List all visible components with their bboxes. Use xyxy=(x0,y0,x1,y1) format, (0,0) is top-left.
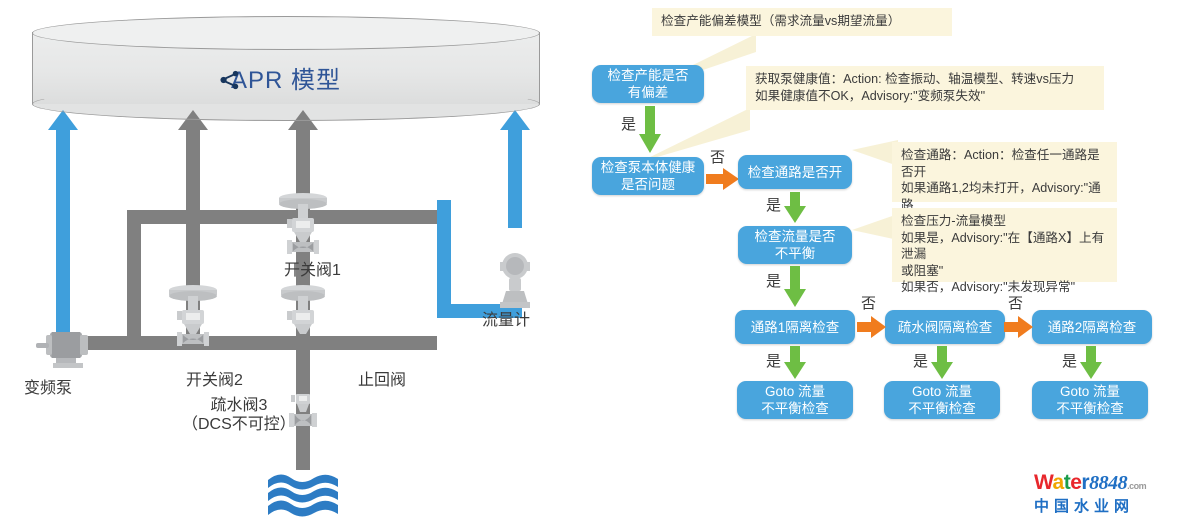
site-logo: Water8848.com 中国水业网 xyxy=(1034,472,1180,518)
arrow-yes-capacity-to-pump xyxy=(639,106,661,154)
node-pump-health[interactable]: 检查泵本体健康 是否问题 xyxy=(592,157,704,195)
logo-number: 8848 xyxy=(1089,472,1127,494)
arrow-no-drain-to-path2 xyxy=(1004,316,1034,338)
edge-label-yes-3: 是 xyxy=(766,270,781,291)
left-drop-pipe xyxy=(127,210,141,340)
valve-2-label: 开关阀2 xyxy=(186,366,243,390)
check-valve-label: 止回阀 xyxy=(358,366,406,390)
node-path1-isolation[interactable]: 通路1隔离检查 xyxy=(735,310,855,344)
node-capacity-deviation[interactable]: 检查产能是否 有偏差 xyxy=(592,65,704,103)
drain-valve-3-label-line1: 疏水阀3 xyxy=(182,396,296,415)
logo-chinese-name: 中国水业网 xyxy=(1034,497,1180,517)
valve-1-label: 开关阀1 xyxy=(284,256,341,280)
node-goto-2[interactable]: Goto 流量 不平衡检查 xyxy=(884,381,1000,419)
flowmeter-vertical-pipe xyxy=(437,200,451,318)
logo-letter-e: e xyxy=(1070,471,1081,494)
edge-label-yes-6: 是 xyxy=(1062,350,1077,371)
edge-label-no-1: 否 xyxy=(710,146,725,167)
diagram-canvas: APR 模型 变频泵 开关阀1 xyxy=(0,0,1183,525)
note-capacity-model: 检查产能偏差模型（需求流量vs期望流量） xyxy=(652,8,952,36)
arrow-yes-path1-to-goto1 xyxy=(784,346,806,380)
node-drainvalve-isolation[interactable]: 疏水阀隔离检查 xyxy=(885,310,1005,344)
logo-wordmark: Water8848.com xyxy=(1034,472,1180,497)
flow-meter-label: 流量计 xyxy=(482,306,530,330)
apr-model-label: APR 模型 xyxy=(32,60,540,95)
note-pressure-flow-model: 检查压力-流量模型 如果是，Advisory:"在【通路X】上有泄漏 或阻塞" … xyxy=(892,208,1117,282)
pump-label: 变频泵 xyxy=(24,374,72,398)
note-path-check: 检查通路：Action：检查任一通路是否开 如果通路1,2均未打开，Adviso… xyxy=(892,142,1117,202)
logo-tld: .com xyxy=(1127,481,1146,491)
main-header-pipe xyxy=(86,336,437,350)
apr-model-cylinder: APR 模型 xyxy=(32,16,540,120)
pump-riser-pipe xyxy=(56,128,70,336)
flowmeter-riser-pipe xyxy=(508,128,522,228)
edge-label-yes-5: 是 xyxy=(913,350,928,371)
pump-icon xyxy=(36,326,98,368)
node-flow-imbalance[interactable]: 检查流量是否 不平衡 xyxy=(738,226,852,264)
logo-letter-a: a xyxy=(1053,471,1064,494)
arrow-yes-path-to-flow xyxy=(784,192,806,224)
drain-valve-3-label-line2: （DCS不可控） xyxy=(182,415,296,434)
valve-2-icon xyxy=(164,282,222,346)
logo-letter-r: r xyxy=(1081,471,1089,494)
edge-label-yes-4: 是 xyxy=(766,350,781,371)
arrow-no-path1-to-drain xyxy=(857,316,887,338)
valve-1-icon xyxy=(274,190,332,254)
node-goto-3[interactable]: Goto 流量 不平衡检查 xyxy=(1032,381,1148,419)
node-path2-isolation[interactable]: 通路2隔离检查 xyxy=(1032,310,1152,344)
share-icon xyxy=(219,69,241,91)
edge-label-yes-2: 是 xyxy=(766,194,781,215)
edge-label-yes-1: 是 xyxy=(621,113,636,134)
edge-label-no-3: 否 xyxy=(1008,292,1023,313)
water-waves-icon xyxy=(268,472,338,518)
logo-letter-w: W xyxy=(1034,471,1053,494)
flow-meter-icon xyxy=(492,250,538,312)
arrow-yes-path2-to-goto3 xyxy=(1080,346,1102,380)
note-pump-health: 获取泵健康值：Action: 检查振动、轴温模型、转速vs压力 如果健康值不OK… xyxy=(746,66,1104,110)
drain-valve-3-label: 疏水阀3 （DCS不可控） xyxy=(182,396,296,434)
node-path-open[interactable]: 检查通路是否开 xyxy=(738,155,852,189)
arrow-no-pump-to-path xyxy=(706,168,740,190)
arrow-yes-flow-to-path1 xyxy=(784,266,806,308)
edge-label-no-2: 否 xyxy=(861,292,876,313)
node-goto-1[interactable]: Goto 流量 不平衡检查 xyxy=(737,381,853,419)
check-valve-icon xyxy=(274,282,332,346)
arrow-yes-drain-to-goto2 xyxy=(931,346,953,380)
